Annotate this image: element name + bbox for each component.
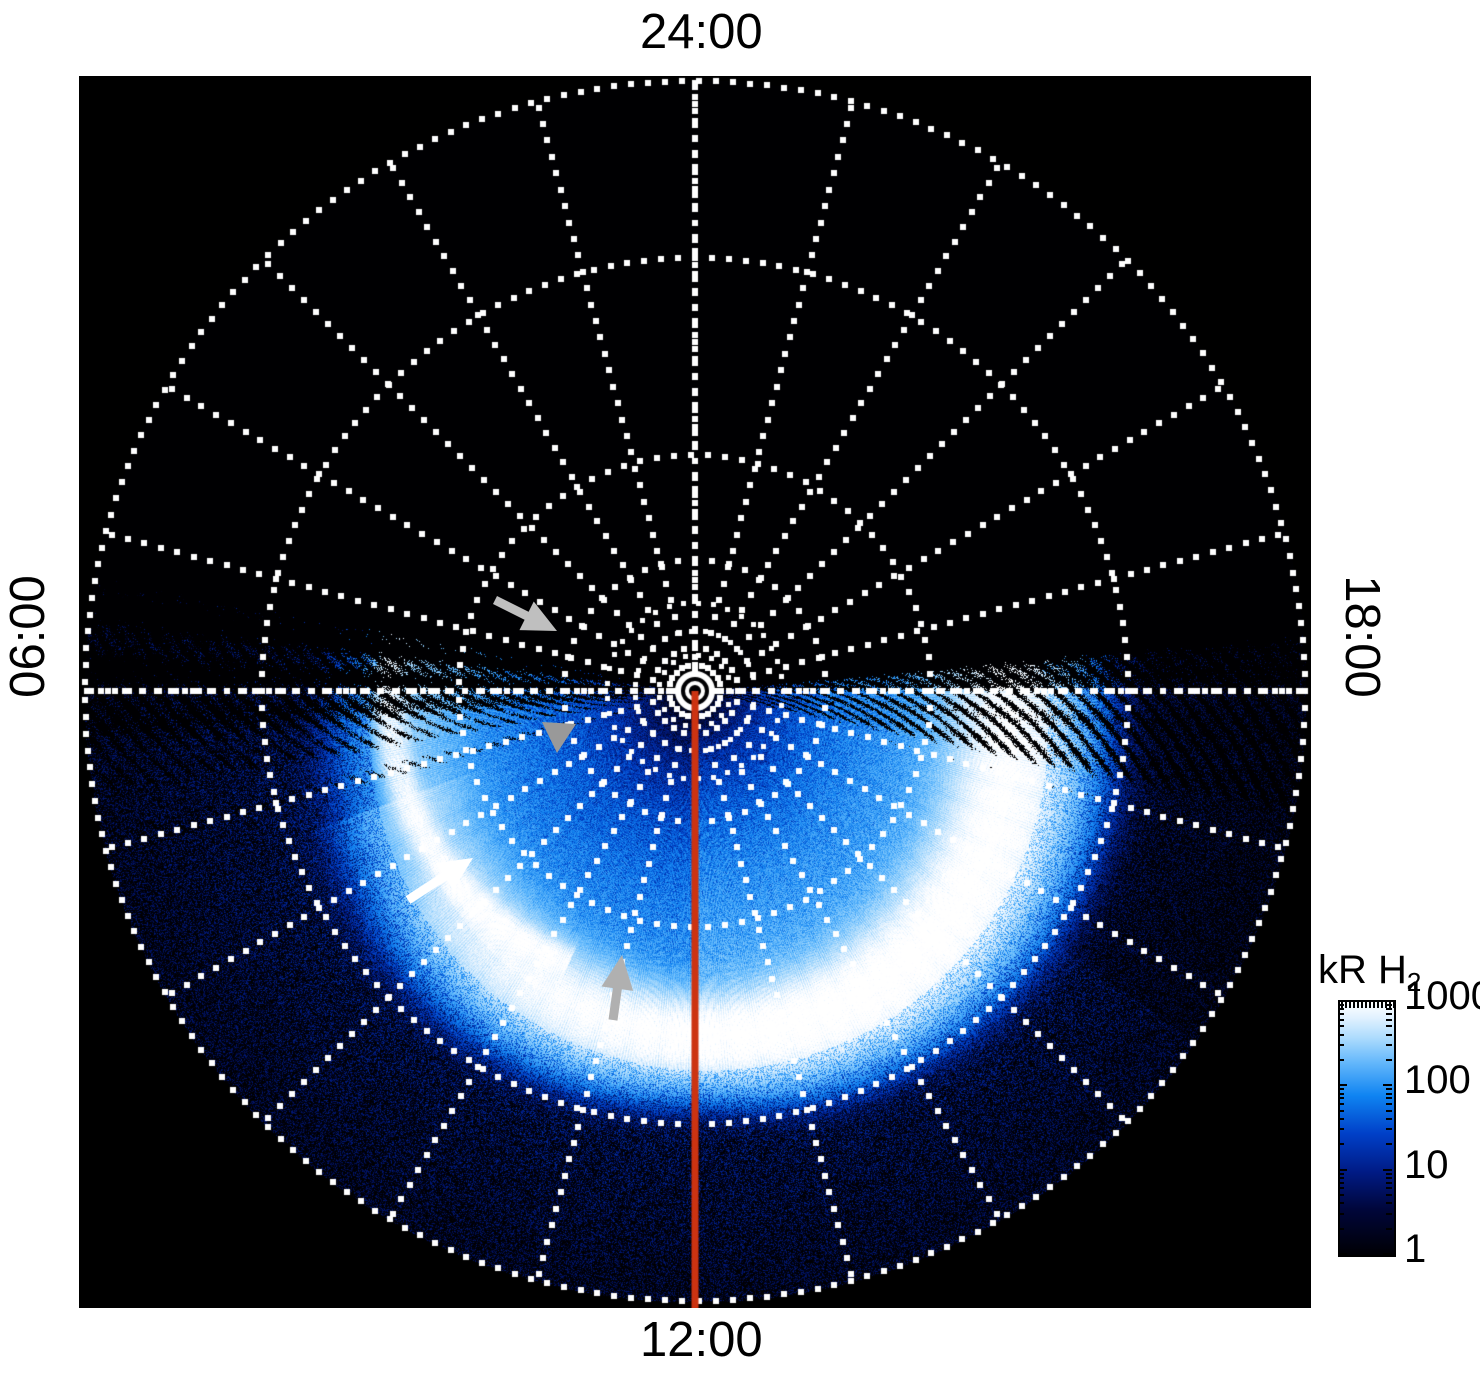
colorbar-tick: [1386, 1044, 1392, 1046]
colorbar-tick: [1386, 1093, 1392, 1095]
colorbar-tick: [1386, 1182, 1392, 1184]
colorbar-tick: [1369, 1001, 1371, 1008]
axis-label-bottom: 12:00: [640, 1316, 763, 1365]
colorbar-tick: [1386, 1202, 1392, 1204]
colorbar-tick: [1386, 1187, 1392, 1189]
colorbar-tick: [1386, 1110, 1392, 1112]
colorbar-tick: [1338, 1253, 1347, 1255]
colorbar-tick: [1338, 1187, 1344, 1189]
axis-label-left: 06:00: [4, 575, 53, 698]
colorbar-tick-label: 10: [1404, 1145, 1449, 1185]
colorbar-tick: [1338, 1118, 1344, 1120]
colorbar-tick: [1338, 1025, 1344, 1027]
colorbar-tick: [1373, 1001, 1375, 1008]
colorbar-tick: [1357, 1001, 1359, 1008]
colorbar-tick: [1338, 1088, 1344, 1090]
colorbar-tick: [1386, 1034, 1392, 1036]
colorbar-tick: [1338, 1084, 1347, 1086]
colorbar-tick: [1338, 1173, 1344, 1175]
colorbar-tick-label: 1: [1404, 1229, 1426, 1269]
axis-label-top: 24:00: [640, 8, 763, 57]
colorbar-tick: [1386, 1013, 1392, 1015]
colorbar-tick: [1386, 1088, 1392, 1090]
colorbar-tick: [1338, 1177, 1344, 1179]
colorbar-tick: [1377, 1001, 1379, 1008]
colorbar-tick: [1386, 1128, 1392, 1130]
colorbar-tick: [1386, 1177, 1392, 1179]
colorbar-tick: [1338, 1110, 1344, 1112]
colorbar-tick: [1386, 1019, 1392, 1021]
colorbar-tick: [1386, 1194, 1392, 1196]
colorbar-tick: [1338, 1008, 1344, 1010]
colorbar-tick: [1361, 1001, 1363, 1008]
colorbar-tick: [1365, 1001, 1367, 1008]
colorbar-tick-label: 100: [1404, 1060, 1471, 1100]
colorbar-tick: [1393, 1001, 1395, 1008]
colorbar-tick: [1386, 1213, 1392, 1215]
colorbar-tick: [1338, 1213, 1344, 1215]
polar-image-panel: [79, 76, 1311, 1308]
colorbar-tick: [1338, 1093, 1344, 1095]
colorbar-tick: [1381, 1001, 1383, 1008]
colorbar-tick: [1386, 1228, 1392, 1230]
colorbar-tick: [1338, 1128, 1344, 1130]
colorbar-tick: [1338, 1228, 1344, 1230]
aurora-heatmap-canvas: [79, 76, 1311, 1308]
colorbar-tick: [1383, 1169, 1392, 1171]
colorbar-tick: [1353, 1001, 1355, 1008]
colorbar-tick-label: 1000: [1404, 976, 1480, 1016]
colorbar-tick: [1349, 1001, 1351, 1008]
colorbar-tick: [1338, 1097, 1344, 1099]
colorbar-title-main: kR H: [1318, 948, 1407, 992]
axis-label-right: 18:00: [1337, 575, 1386, 698]
colorbar-tick: [1386, 1025, 1392, 1027]
colorbar: kR H2 1000100101: [1318, 948, 1480, 1320]
colorbar-tick: [1385, 1001, 1387, 1008]
colorbar-tick: [1389, 1001, 1391, 1008]
colorbar-tick: [1386, 1143, 1392, 1145]
colorbar-tick: [1383, 1084, 1392, 1086]
colorbar-tick: [1386, 1059, 1392, 1061]
colorbar-tick: [1338, 1182, 1344, 1184]
colorbar-tick: [1383, 1253, 1392, 1255]
colorbar-tick: [1338, 1013, 1344, 1015]
figure-root: 24:00 12:00 06:00 18:00 kR H2 1000100101: [0, 0, 1480, 1384]
colorbar-tick: [1338, 1019, 1344, 1021]
colorbar-tick: [1338, 1059, 1344, 1061]
colorbar-tick: [1386, 1103, 1392, 1105]
colorbar-tick: [1338, 1143, 1344, 1145]
colorbar-tick: [1338, 1044, 1344, 1046]
colorbar-tick: [1338, 1202, 1344, 1204]
colorbar-tick: [1386, 1118, 1392, 1120]
colorbar-tick: [1345, 1001, 1347, 1008]
colorbar-tick: [1341, 1001, 1343, 1008]
colorbar-tick: [1386, 1173, 1392, 1175]
colorbar-tick: [1338, 1103, 1344, 1105]
colorbar-tick: [1338, 1194, 1344, 1196]
colorbar-tick: [1386, 1008, 1392, 1010]
colorbar-tick: [1338, 1169, 1347, 1171]
colorbar-tick: [1386, 1097, 1392, 1099]
colorbar-tick: [1338, 1034, 1344, 1036]
